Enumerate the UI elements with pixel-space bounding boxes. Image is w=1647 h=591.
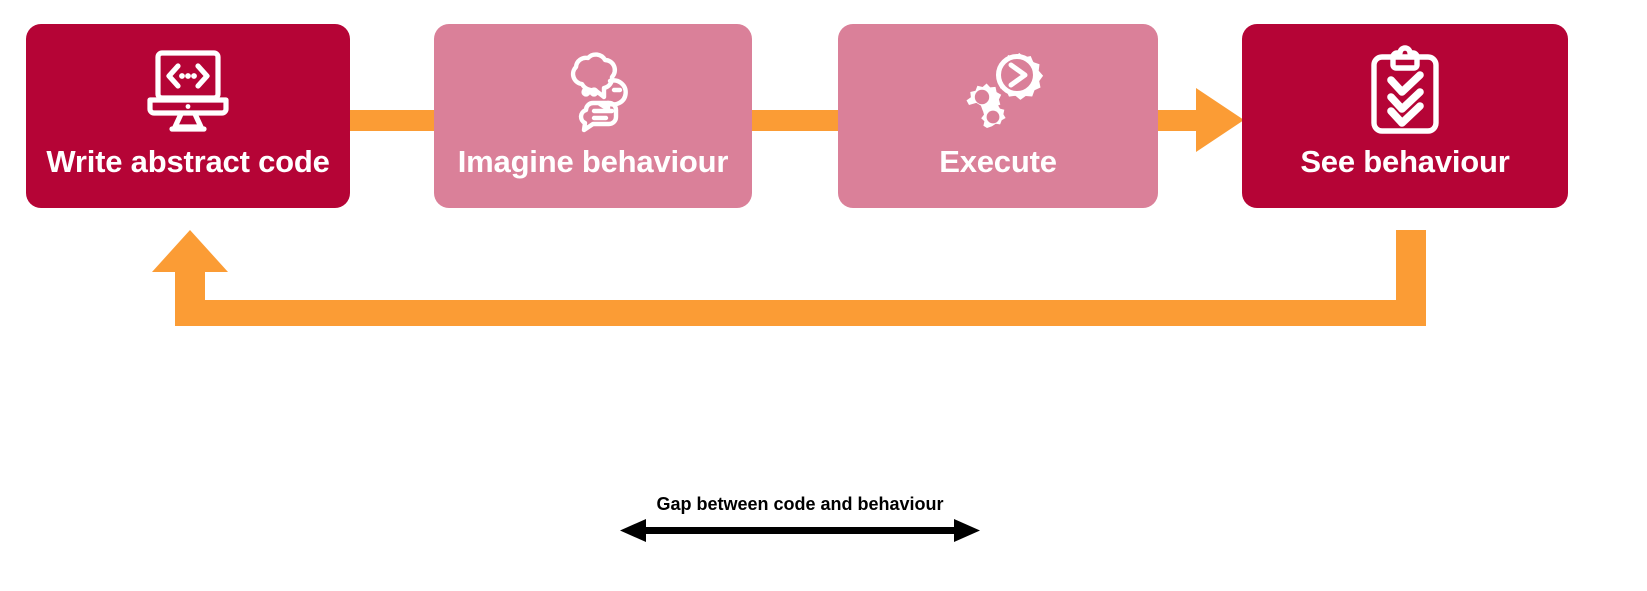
monitor-code-icon (26, 46, 350, 138)
thought-cloud-head-icon (434, 46, 752, 138)
clipboard-checklist-icon (1242, 46, 1568, 138)
step-card-execute[interactable]: Execute (838, 24, 1158, 208)
step-card-label: Write abstract code (46, 146, 329, 177)
feedback-bottom-segment (175, 300, 1426, 326)
feedback-arrow-head (152, 230, 228, 272)
step-card-label: Execute (939, 146, 1057, 177)
gap-measure-arrow (620, 519, 980, 545)
gap-arrow-head-left (620, 519, 646, 542)
gap-arrow-shaft (642, 527, 958, 534)
gap-annotation-label: Gap between code and behaviour (600, 495, 1000, 513)
gap-annotation: Gap between code and behaviour (600, 495, 1000, 555)
gears-play-icon (838, 46, 1158, 138)
diagram-canvas: Write abstract code (0, 0, 1647, 591)
gap-arrow-head-right (954, 519, 980, 542)
step-card-imagine-behaviour[interactable]: Imagine behaviour (434, 24, 752, 208)
step-card-label: Imagine behaviour (458, 146, 729, 177)
feedback-loop-arrow (150, 230, 1435, 340)
step-card-label: See behaviour (1300, 146, 1509, 177)
step-card-see-behaviour[interactable]: See behaviour (1242, 24, 1568, 208)
flow-arrow-head (1196, 88, 1244, 152)
step-card-write-abstract-code[interactable]: Write abstract code (26, 24, 350, 208)
